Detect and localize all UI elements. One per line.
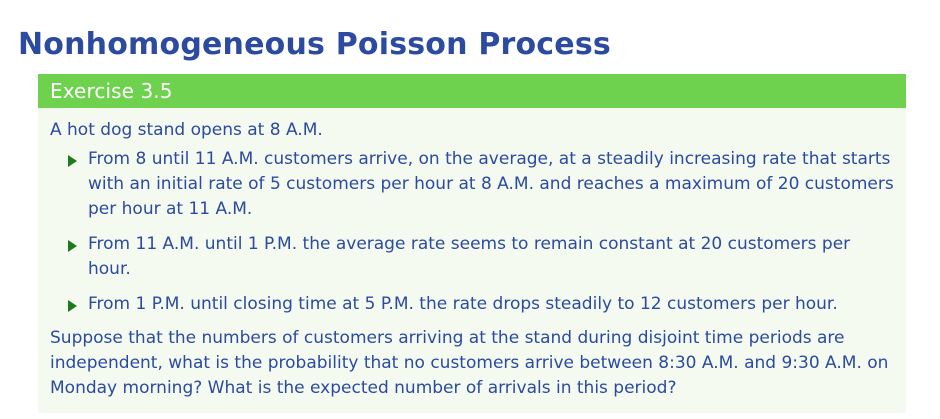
intro-paragraph: A hot dog stand opens at 8 A.M. (50, 118, 894, 143)
exercise-block: Exercise 3.5 A hot dog stand opens at 8 … (38, 74, 906, 413)
list-item: From 11 A.M. until 1 P.M. the average ra… (50, 232, 894, 282)
list-item-label: From 8 until 11 A.M. customers arrive, o… (88, 149, 894, 219)
slide: Nonhomogeneous Poisson Process Exercise … (0, 0, 940, 419)
triangle-right-icon (68, 300, 77, 312)
list-item: From 1 P.M. until closing time at 5 P.M.… (50, 292, 894, 317)
bullet-list: From 8 until 11 A.M. customers arrive, o… (50, 147, 894, 317)
list-item-label: From 11 A.M. until 1 P.M. the average ra… (88, 234, 850, 279)
triangle-right-icon (68, 155, 77, 167)
list-item-label: From 1 P.M. until closing time at 5 P.M.… (88, 294, 838, 314)
block-header: Exercise 3.5 (38, 74, 906, 108)
triangle-right-icon (68, 240, 77, 252)
outro-paragraph: Suppose that the numbers of customers ar… (50, 326, 894, 401)
page-title: Nonhomogeneous Poisson Process (18, 26, 611, 64)
list-item: From 8 until 11 A.M. customers arrive, o… (50, 147, 894, 222)
block-header-label: Exercise 3.5 (50, 79, 173, 103)
block-body: A hot dog stand opens at 8 A.M. From 8 u… (38, 108, 906, 413)
